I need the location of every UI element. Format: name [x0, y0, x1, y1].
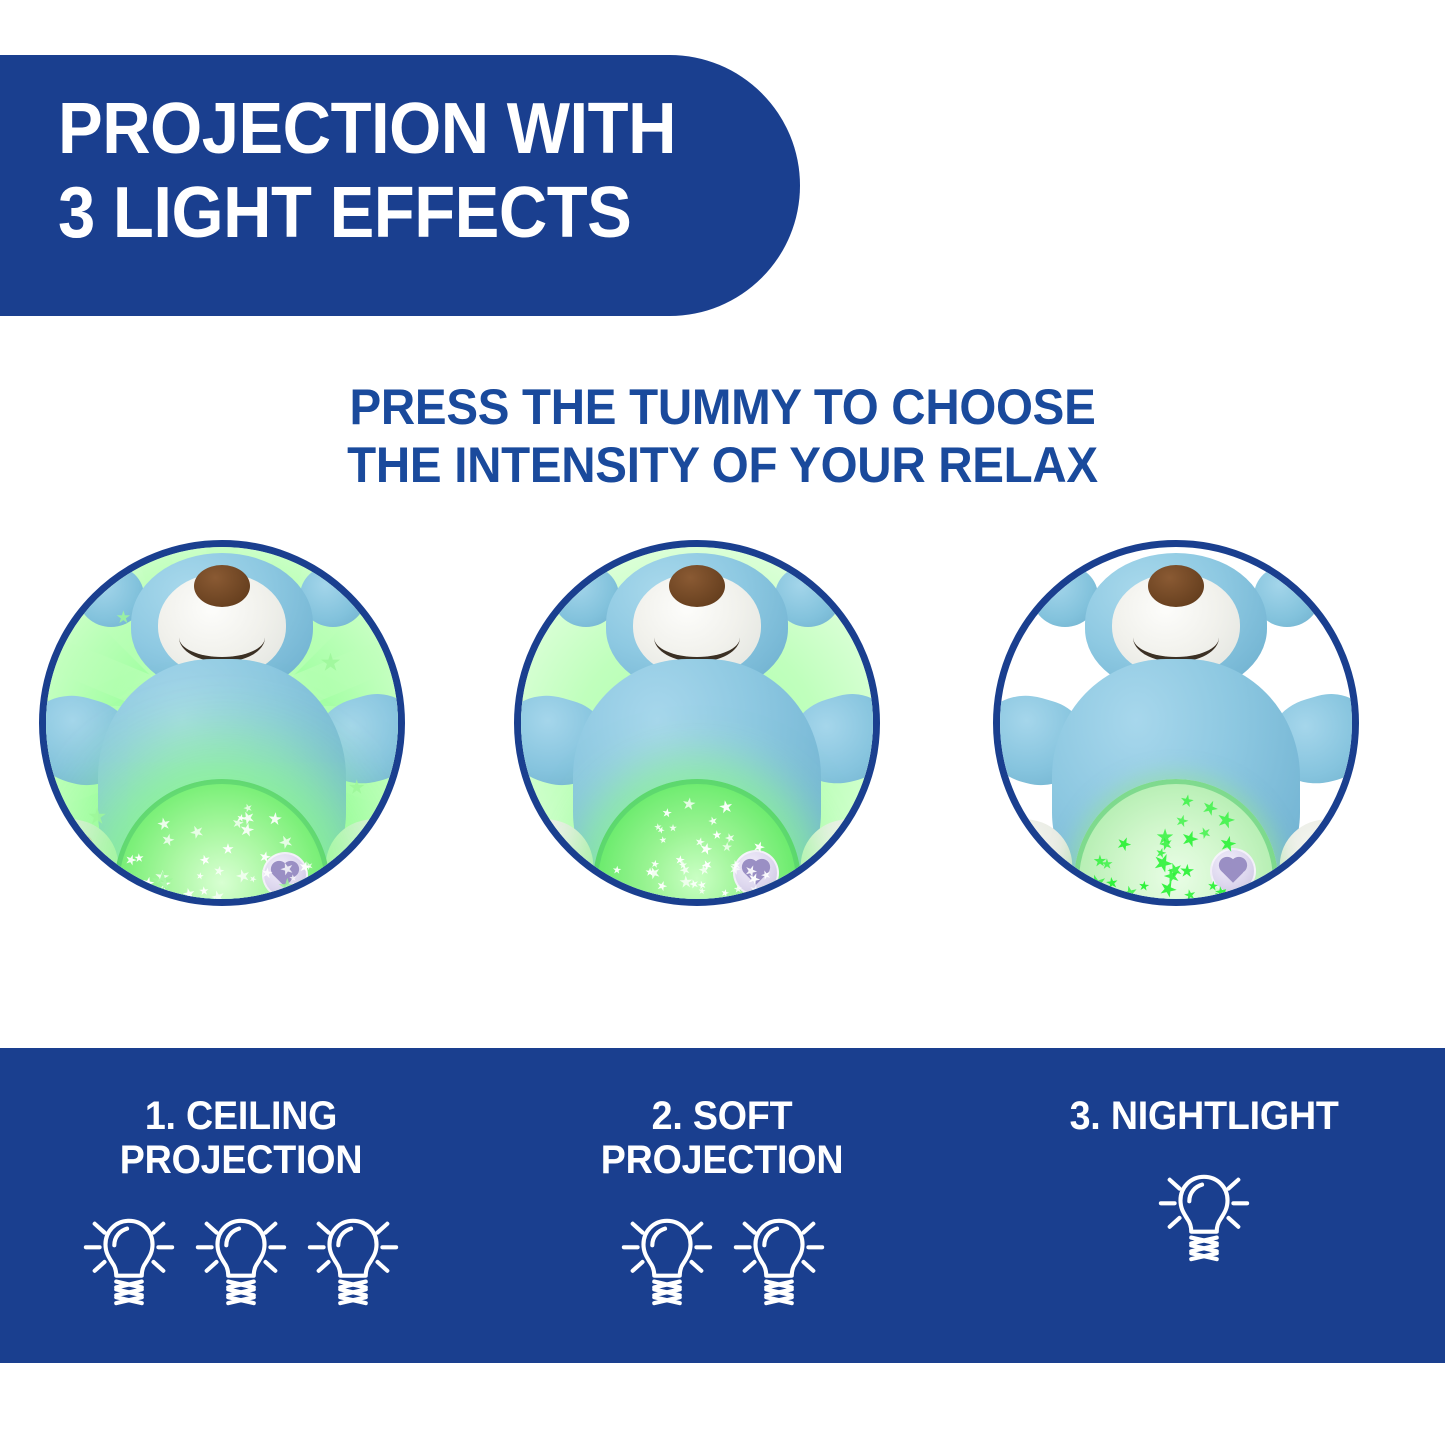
plush-bear: dreams [547, 547, 847, 906]
photo-circle-nightlight: dreams [993, 540, 1359, 906]
product-photo-row: dreams [0, 540, 1445, 965]
scene-nightlight: dreams [1000, 547, 1352, 899]
mode-column-1: 1. CEILING PROJECTION [0, 1048, 482, 1363]
lightbulb-icon [618, 1208, 716, 1312]
product-feature-graphic: PROJECTION WITH3 LIGHT EFFECTS PRESS THE… [0, 0, 1445, 1445]
scene-soft-projection: dreams [521, 547, 873, 899]
mode-label: 1. CEILING PROJECTION [120, 1094, 363, 1182]
bear-mouth [1133, 613, 1219, 662]
subtitle: PRESS THE TUMMY TO CHOOSE THE INTENSITY … [0, 378, 1445, 494]
header-banner: PROJECTION WITH3 LIGHT EFFECTS [0, 55, 800, 316]
bulb-indicator-group [80, 1208, 402, 1312]
photo-circle-soft-projection: dreams [514, 540, 880, 906]
bear-nose [1148, 565, 1204, 607]
tummy-brandmark: dreams [1135, 893, 1216, 906]
tummy-brandmark: dreams [656, 895, 737, 906]
page-title: PROJECTION WITH3 LIGHT EFFECTS [58, 87, 748, 255]
bear-mouth [654, 613, 740, 662]
mode-column-2: 2. SOFT PROJECTION [482, 1048, 964, 1363]
modes-list: 1. CEILING PROJECTION2. SOFT PROJECTION3… [0, 1048, 1445, 1363]
projected-star [1174, 905, 1198, 906]
bulb-indicator-group [1155, 1164, 1253, 1268]
projected-star [1152, 901, 1166, 906]
bear-nose [669, 565, 725, 607]
bear-mouth [179, 613, 265, 662]
page-title-line1: PROJECTION WITH [58, 89, 676, 169]
projected-star [1238, 900, 1259, 906]
lightbulb-icon [730, 1208, 828, 1312]
projected-star [1112, 901, 1135, 906]
lightbulb-icon [192, 1208, 290, 1312]
heart-icon [1221, 860, 1244, 883]
projected-star [718, 905, 731, 906]
subtitle-line2: THE INTENSITY OF YOUR RELAX [36, 436, 1409, 494]
subtitle-line1: PRESS THE TUMMY TO CHOOSE [36, 378, 1409, 436]
plush-bear: dreams [1026, 547, 1326, 906]
lightbulb-icon [304, 1208, 402, 1312]
bulb-indicator-group [618, 1208, 828, 1312]
page-title-line2: 3 LIGHT EFFECTS [58, 173, 631, 253]
bear-nose [194, 565, 250, 607]
modes-panel: 1. CEILING PROJECTION2. SOFT PROJECTION3… [0, 1048, 1445, 1363]
scene-ceiling-projection: dreams [46, 547, 398, 899]
mode-label: 3. NIGHTLIGHT [1070, 1094, 1339, 1138]
projected-star [298, 903, 317, 906]
lightbulb-icon [80, 1208, 178, 1312]
tummy-brandmark: dreams [181, 900, 262, 906]
photo-circle-ceiling-projection: dreams [39, 540, 405, 906]
plush-bear: dreams [72, 547, 372, 906]
mode-column-3: 3. NIGHTLIGHT [963, 1048, 1445, 1363]
mode-label: 2. SOFT PROJECTION [601, 1094, 844, 1182]
lightbulb-icon [1155, 1164, 1253, 1268]
